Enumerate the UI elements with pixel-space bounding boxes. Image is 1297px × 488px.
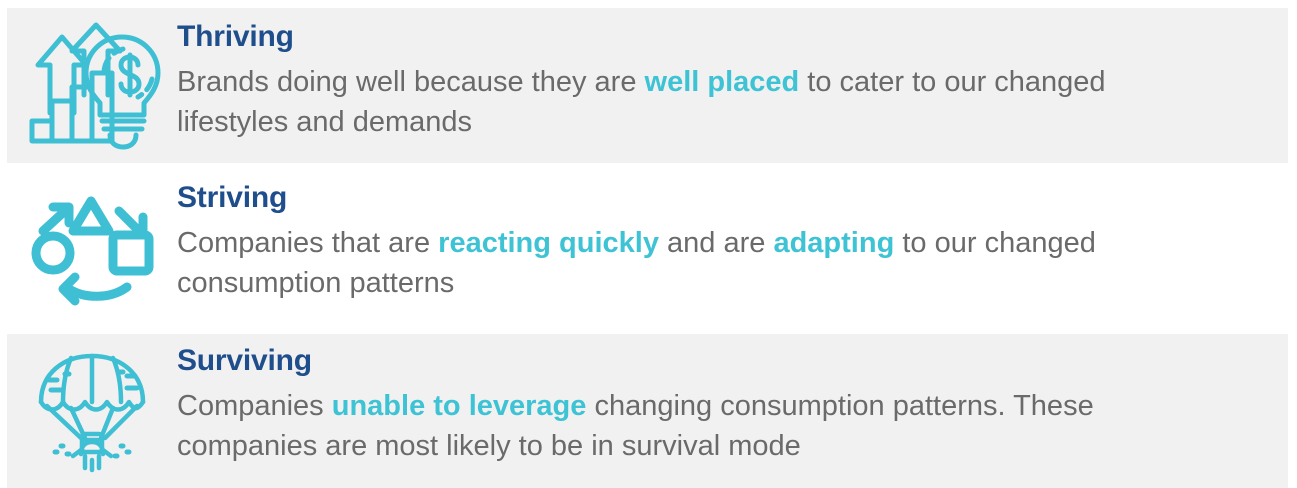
description-segment: and are: [659, 227, 773, 259]
description-highlight: well placed: [645, 66, 800, 98]
category-text-surviving: Surviving Companies unable to leverage c…: [177, 334, 1288, 467]
category-row-thriving: Thriving Brands doing well because they …: [7, 8, 1288, 163]
description-highlight: adapting: [773, 227, 894, 259]
circular-arrows-shapes-adapting-icon: [7, 167, 177, 330]
lightbulb-dollar-growth-chart-icon: [7, 8, 177, 163]
category-row-surviving: Surviving Companies unable to leverage c…: [7, 334, 1288, 488]
description-highlight: reacting quickly: [438, 227, 659, 259]
description-highlight: unable to leverage: [332, 390, 587, 422]
category-description: Brands doing well because they are well …: [177, 62, 1187, 143]
category-description: Companies that are reacting quickly and …: [177, 223, 1187, 304]
description-segment: Brands doing well because they are: [177, 66, 645, 98]
category-title: Surviving: [177, 344, 1288, 378]
parachute-icon: [7, 334, 177, 488]
category-list: Thriving Brands doing well because they …: [0, 0, 1297, 488]
category-row-striving: Striving Companies that are reacting qui…: [7, 167, 1288, 330]
category-text-thriving: Thriving Brands doing well because they …: [177, 8, 1288, 143]
category-title: Striving: [177, 181, 1288, 215]
category-title: Thriving: [177, 20, 1288, 54]
category-description: Companies unable to leverage changing co…: [177, 386, 1187, 467]
category-text-striving: Striving Companies that are reacting qui…: [177, 167, 1288, 304]
description-segment: Companies that are: [177, 227, 438, 259]
description-segment: Companies: [177, 390, 332, 422]
